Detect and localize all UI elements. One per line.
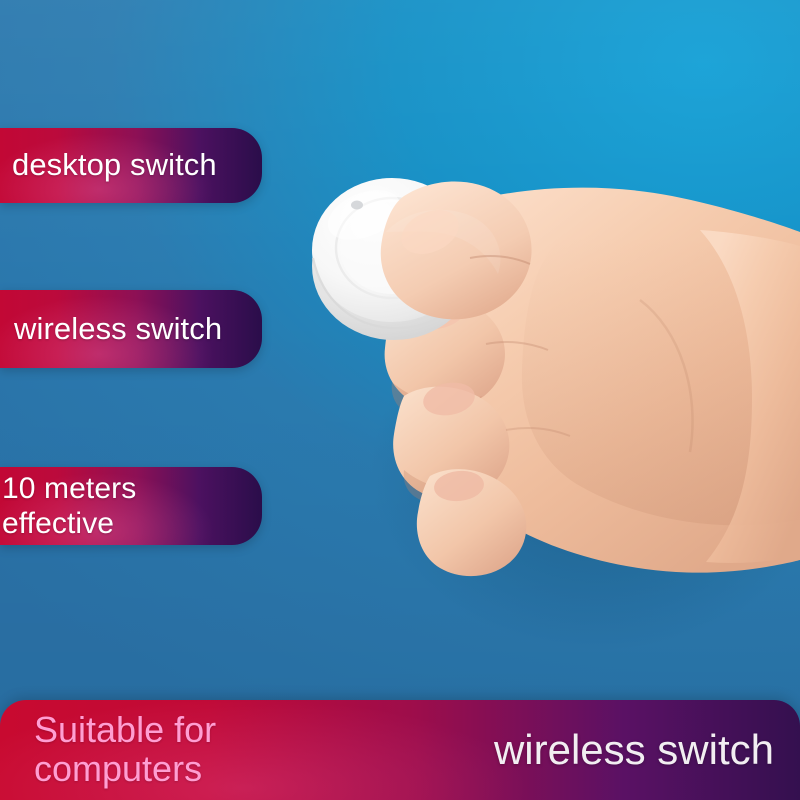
product-marketing-image: desktop switch wireless switch 10 meters… xyxy=(0,0,800,800)
feature-badge-desktop-switch: desktop switch xyxy=(0,128,262,203)
banner-headline-right: wireless switch xyxy=(494,729,800,771)
hand-holding-device-photo xyxy=(0,0,800,800)
banner-headline-left: Suitable for computers xyxy=(0,711,216,788)
feature-badge-range: 10 meters effective xyxy=(0,467,262,545)
bottom-banner: Suitable for computers wireless switch xyxy=(0,700,800,800)
feature-badge-label: 10 meters effective xyxy=(0,471,150,542)
feature-badge-wireless-switch: wireless switch xyxy=(0,290,262,368)
feature-badge-label: desktop switch xyxy=(0,148,231,183)
feature-badge-label: wireless switch xyxy=(0,312,236,347)
